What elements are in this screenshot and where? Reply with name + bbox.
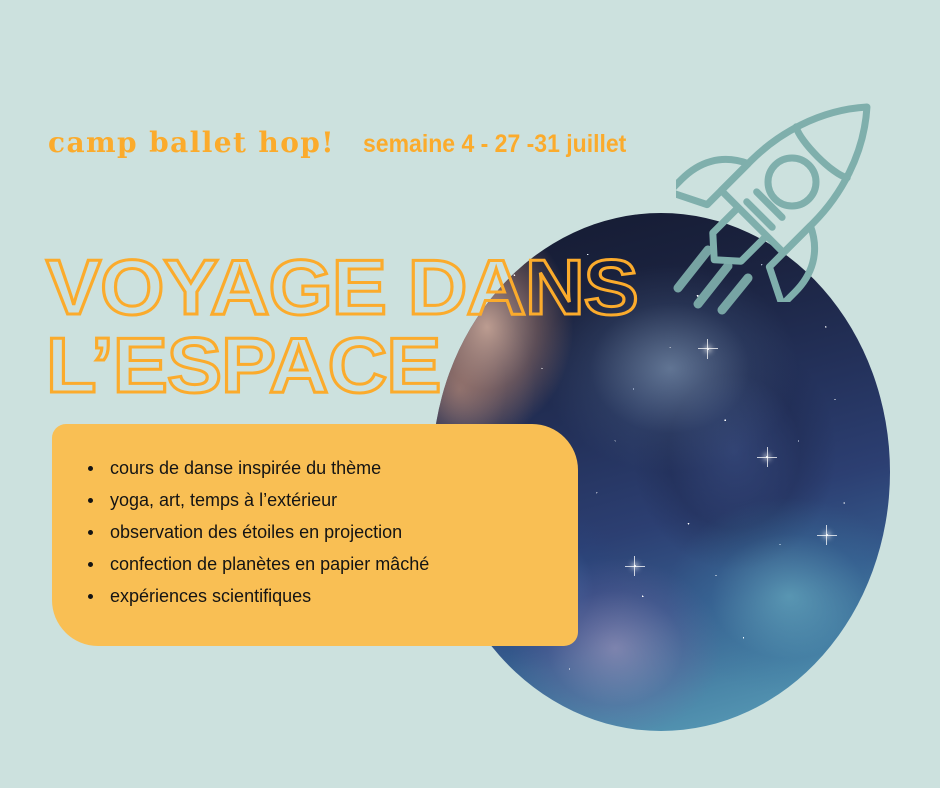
list-item: yoga, art, temps à l’extérieur (82, 490, 578, 511)
session-dates: semaine 4 - 27 -31 juillet (363, 130, 626, 159)
page-title: Voyage dans l’espace (46, 248, 724, 404)
list-item: expériences scientifiques (82, 586, 578, 607)
poster-canvas: camp ballet hop! semaine 4 - 27 -31 juil… (0, 0, 940, 788)
list-item: cours de danse inspirée du thème (82, 458, 578, 479)
bright-star (634, 565, 636, 567)
rocket-nose-line (792, 127, 847, 182)
camp-name: camp ballet hop! (48, 126, 335, 159)
kicker-row: camp ballet hop! semaine 4 - 27 -31 juil… (48, 126, 649, 170)
list-item: confection de planètes en papier mâché (82, 554, 578, 575)
list-item: observation des étoiles en projection (82, 522, 578, 543)
activities-list: cours de danse inspirée du thème yoga, a… (52, 424, 578, 607)
activities-card: cours de danse inspirée du thème yoga, a… (52, 424, 578, 646)
